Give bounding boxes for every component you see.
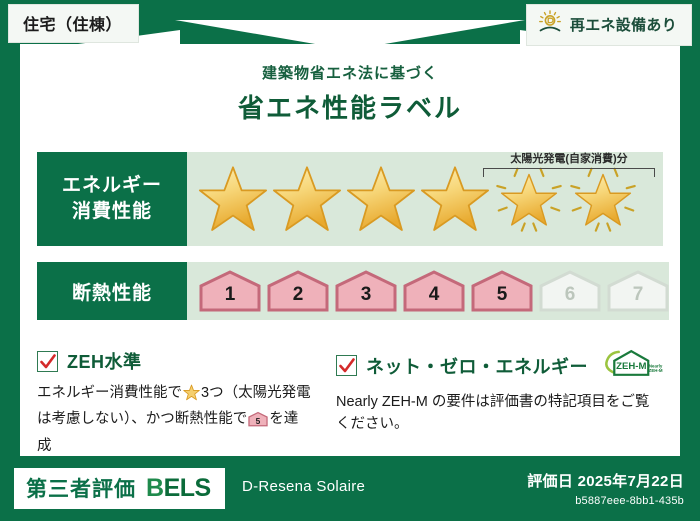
insulation-grade-value: 3 — [335, 270, 397, 312]
bels-logo: BELS — [146, 474, 211, 503]
insulation-performance-label-box: 断熱性能 — [37, 262, 187, 320]
bels-logo-b: B — [146, 474, 164, 502]
renewable-equipment-badge: 再エネ設備あり — [526, 4, 692, 46]
svg-text:ZEH-M: ZEH-M — [649, 368, 663, 373]
renewable-equipment-label: 再エネ設備あり — [570, 14, 677, 35]
zeh-body-part1: エネルギー消費性能で — [37, 385, 182, 401]
insulation-grade-value: 2 — [267, 270, 329, 312]
star-filled — [197, 164, 269, 234]
insulation-grade-badge: 5 — [471, 270, 533, 312]
title-subtitle: 建築物省エネ法に基づく — [0, 62, 700, 83]
energy-performance-label: 住宅（住棟） 再エネ設備あり 建築物省エネ法に基づく 省 — [0, 0, 700, 521]
house-type-tag: 住宅（住棟） — [8, 4, 139, 43]
nze-note-title: ネット・ゼロ・エネルギー — [366, 353, 588, 379]
insulation-grade-badge-inactive: 7 — [607, 270, 669, 312]
zeh-note-header: ZEH水準 — [37, 348, 312, 374]
zeh-note-title: ZEH水準 — [67, 348, 142, 374]
insulation-grade-value: 4 — [403, 270, 465, 312]
star-filled — [345, 164, 417, 234]
project-name: D-Resena Solaire — [242, 478, 365, 495]
star-filled — [419, 164, 491, 234]
insulation-grade-value: 1 — [199, 270, 261, 312]
star-solar-dashed — [493, 164, 565, 234]
bels-jp-label: 第三者評価 — [26, 473, 136, 503]
footer-bar: 第三者評価 BELS D-Resena Solaire 評価日 2025年7月2… — [0, 456, 700, 521]
energy-label-line1: エネルギー — [62, 173, 162, 199]
notes-section: ZEH水準 エネルギー消費性能で 3つ（太陽光発電 は考慮しない）、かつ断熱性能… — [37, 348, 663, 448]
insulation-label-text: 断熱性能 — [72, 278, 152, 305]
energy-label-line2: 消費性能 — [72, 199, 152, 225]
insulation-grade-badge: 1 — [199, 270, 261, 312]
nze-note: ネット・ゼロ・エネルギー ZEH-M Nearly ZEH-M Nearly Z… — [336, 348, 663, 448]
nze-note-header: ネット・ゼロ・エネルギー ZEH-M Nearly ZEH-M — [336, 348, 663, 383]
zeh-note-body: エネルギー消費性能で 3つ（太陽光発電 は考慮しない）、かつ断熱性能で 5 を達… — [37, 382, 312, 457]
nze-note-body: Nearly ZEH-M の要件は評価書の特記項目をご覧ください。 — [336, 391, 663, 436]
check-icon — [336, 355, 357, 376]
energy-performance-row: エネルギー 消費性能 — [37, 152, 663, 246]
bels-certification-badge: 第三者評価 BELS — [14, 468, 225, 509]
zeh-m-logo-icon: ZEH-M Nearly ZEH-M — [601, 348, 663, 383]
page-title: 省エネ性能ラベル — [0, 88, 700, 125]
svg-text:5: 5 — [256, 416, 261, 426]
check-icon — [37, 351, 58, 372]
title-block: 建築物省エネ法に基づく 省エネ性能ラベル — [0, 62, 700, 125]
insulation-grade-badge: 3 — [335, 270, 397, 312]
insulation-performance-row: 断熱性能 1 2 3 — [37, 262, 663, 320]
zeh-note: ZEH水準 エネルギー消費性能で 3つ（太陽光発電 は考慮しない）、かつ断熱性能… — [37, 348, 312, 448]
insulation-grade-badge-inactive: 6 — [539, 270, 601, 312]
zeh-body-part2: 3つ（太陽光発電 — [201, 385, 311, 401]
star-solar-dashed — [567, 164, 639, 234]
energy-performance-label-box: エネルギー 消費性能 — [37, 152, 187, 246]
star-filled — [271, 164, 343, 234]
insulation-grade-value: 5 — [471, 270, 533, 312]
bels-logo-els: ELS — [164, 474, 211, 502]
insulation-grade-value: 7 — [607, 270, 669, 312]
insulation-grade-value: 6 — [539, 270, 601, 312]
sun-energy-icon — [537, 10, 563, 39]
insulation-grade-badge: 4 — [403, 270, 465, 312]
insulation-grade-badge: 2 — [267, 270, 329, 312]
energy-star-track: 太陽光発電(自家消費)分 — [187, 152, 663, 246]
inline-grade-badge: 5 — [248, 411, 268, 434]
inline-star-icon — [183, 384, 200, 408]
svg-text:ZEH-M: ZEH-M — [616, 361, 646, 372]
zeh-body-part3: は考慮しない）、かつ断熱性能で — [37, 411, 247, 427]
evaluation-info: 評価日 2025年7月22日 b5887eee-8bb1-435b — [527, 470, 684, 507]
evaluation-date: 評価日 2025年7月22日 — [527, 470, 684, 491]
insulation-grade-track: 1 2 3 4 — [187, 262, 669, 320]
evaluation-id: b5887eee-8bb1-435b — [527, 495, 684, 507]
